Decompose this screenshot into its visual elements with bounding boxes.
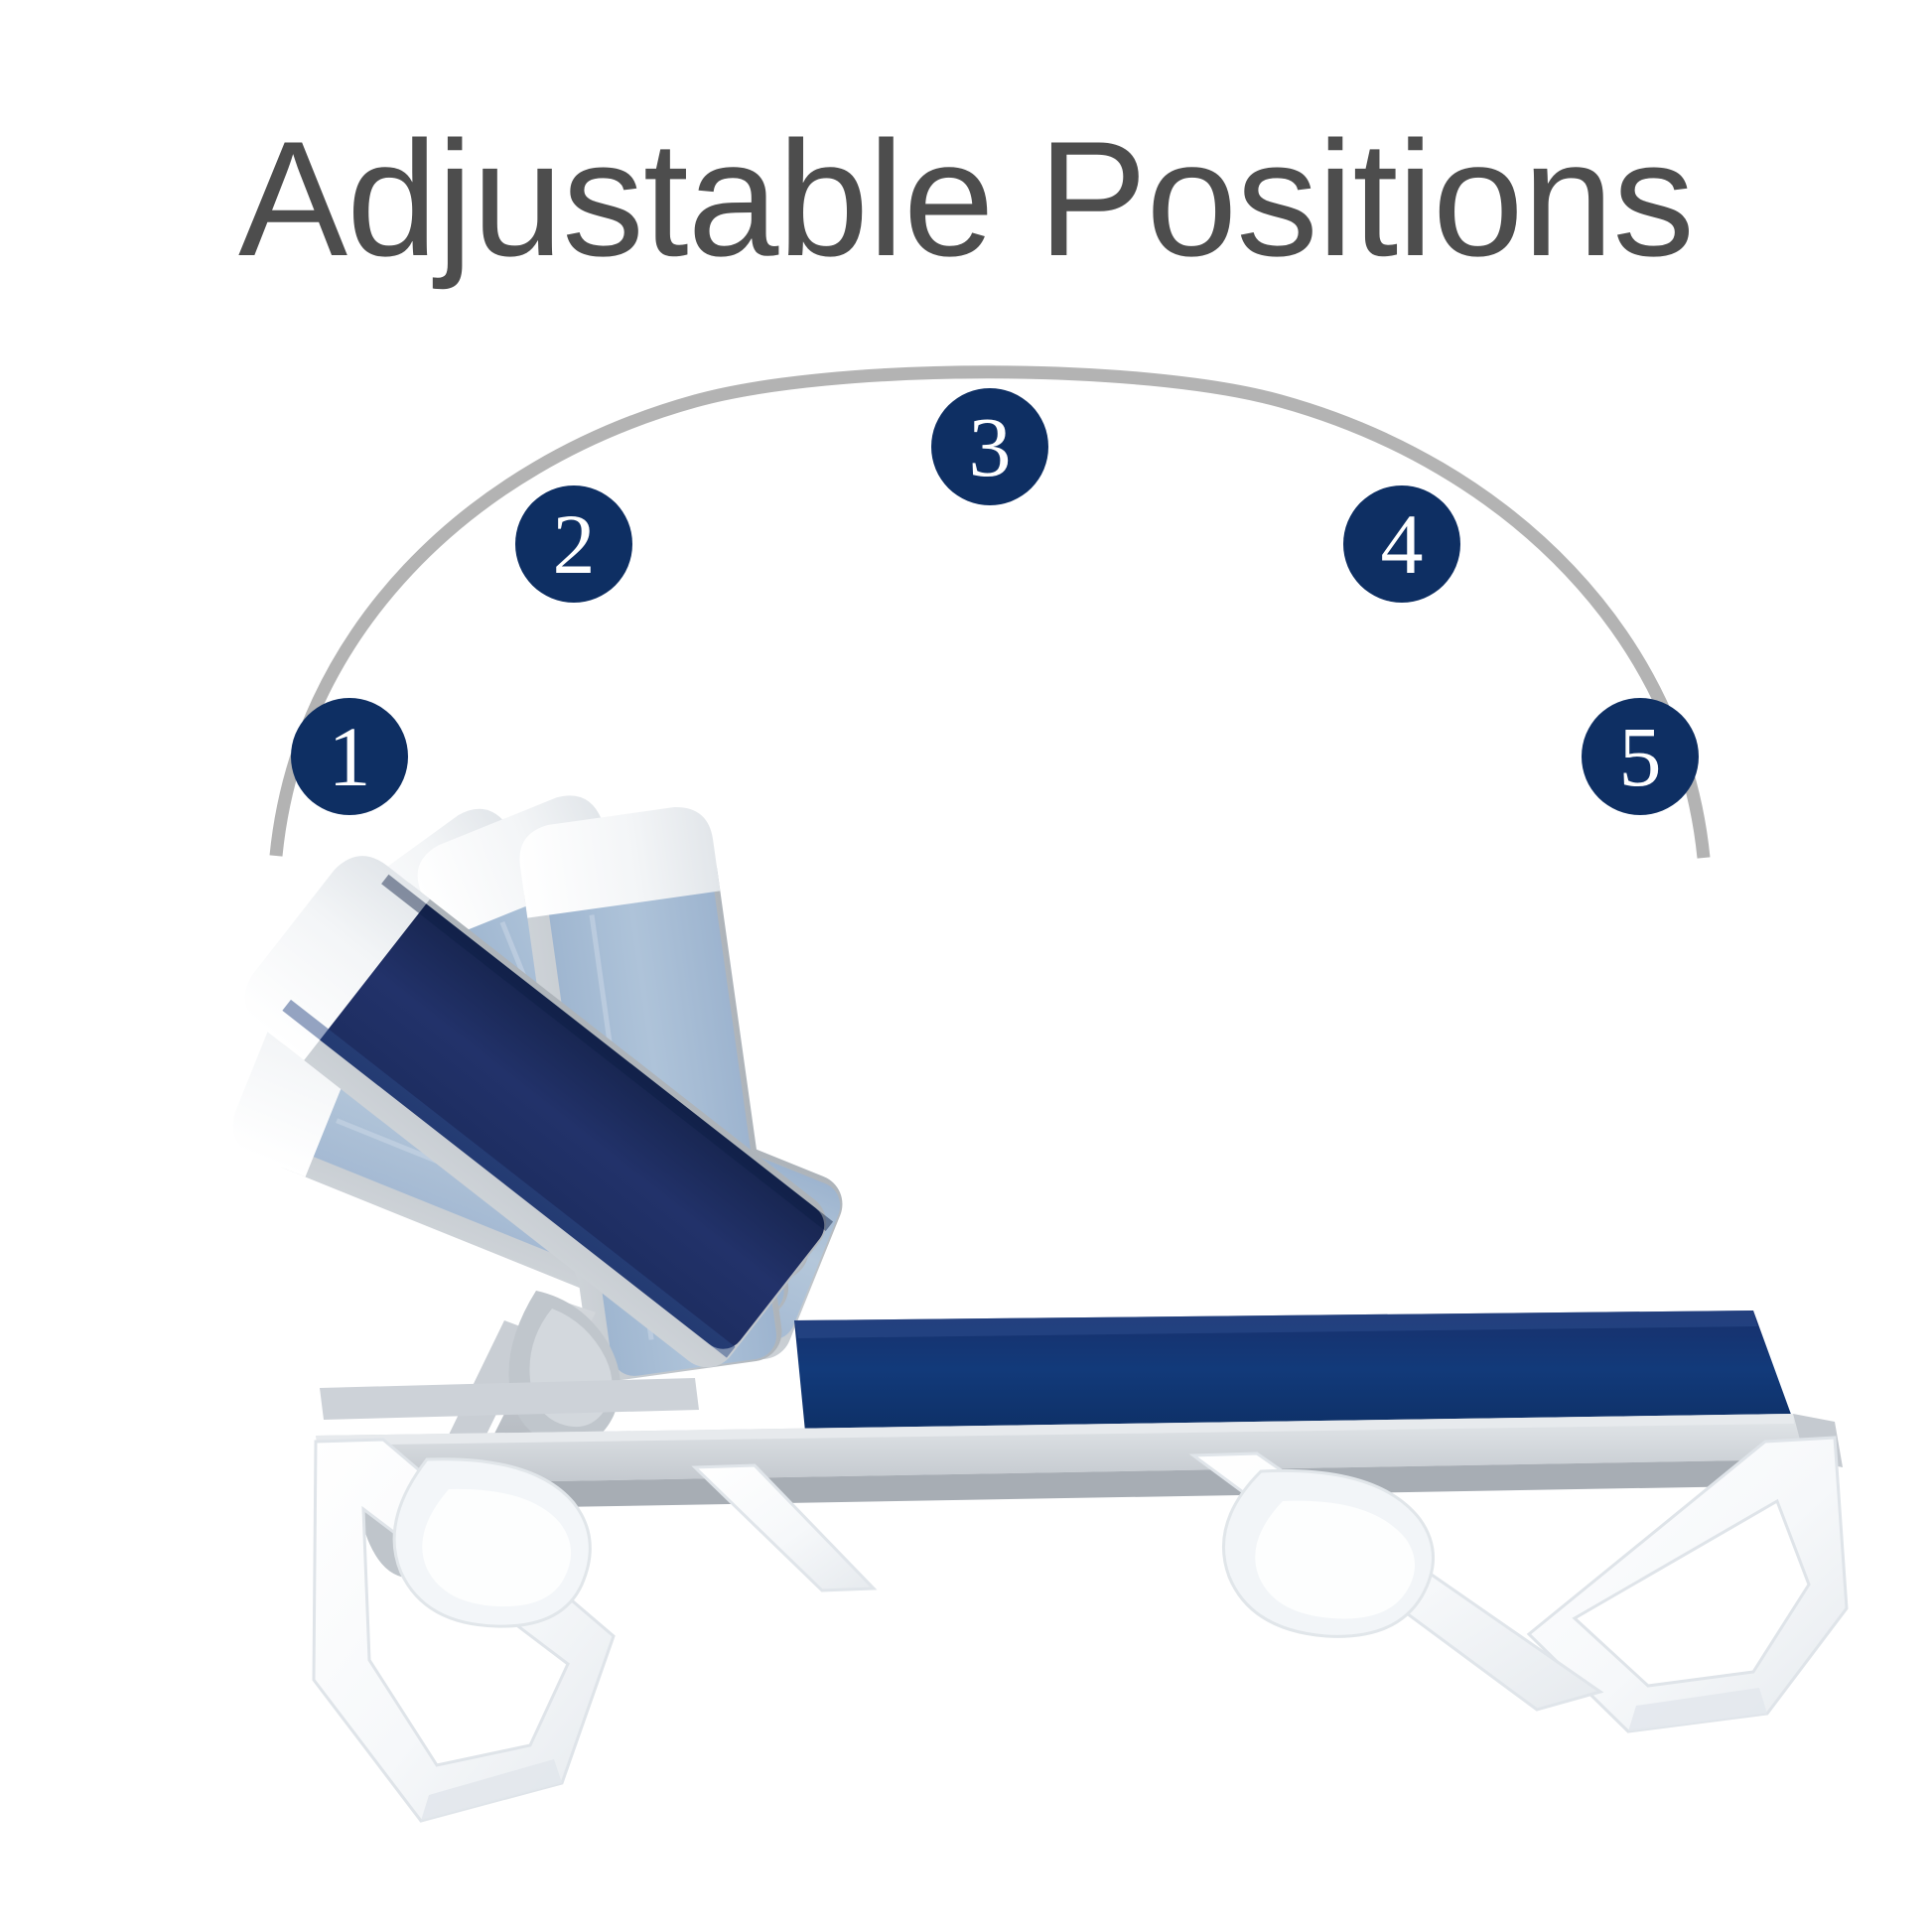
position-badge-2[interactable]: 2	[515, 485, 632, 603]
position-badge-5[interactable]: 5	[1582, 698, 1699, 815]
position-badge-4[interactable]: 4	[1343, 485, 1460, 603]
position-badge-layer: 1 2 3 4 5	[0, 0, 1932, 1932]
position-badge-1[interactable]: 1	[291, 698, 408, 815]
infographic-canvas: Adjustable Positions	[0, 0, 1932, 1932]
position-badge-3[interactable]: 3	[931, 388, 1048, 505]
